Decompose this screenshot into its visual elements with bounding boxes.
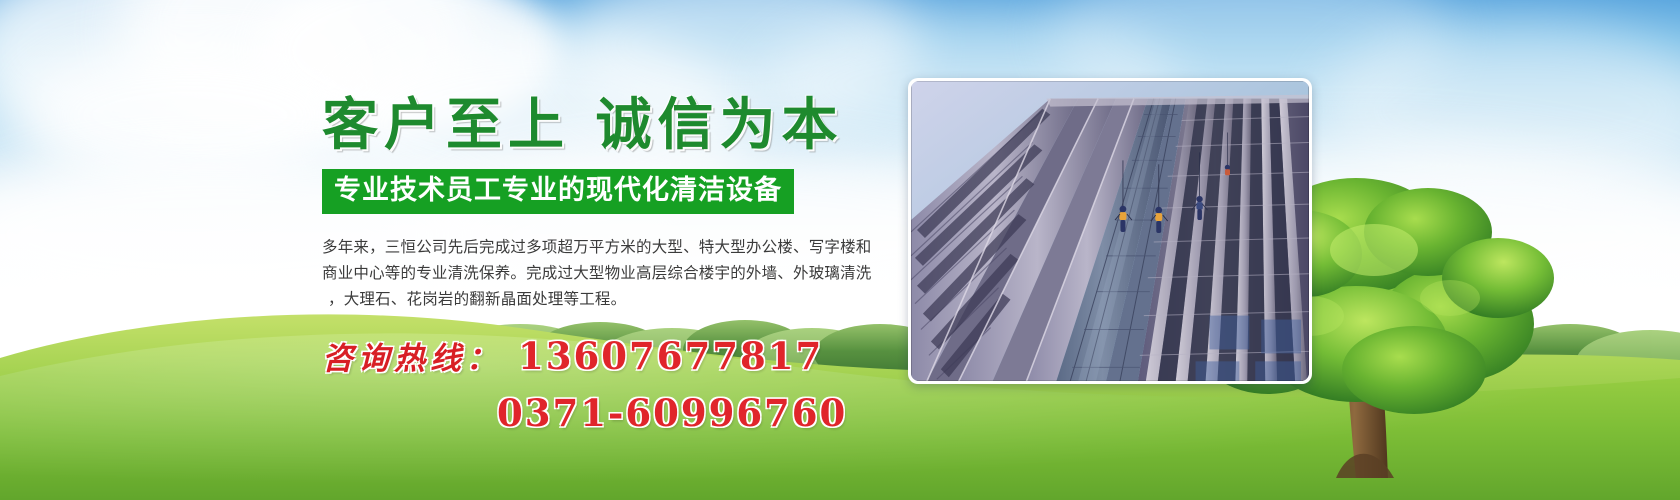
description-line: 商业中心等的专业清洗保养。完成过大型物业高层综合楼宇的外墙、外玻璃清洗: [322, 260, 888, 286]
banner-subheadline-bar: 专业技术员工专业的现代化清洁设备: [322, 169, 794, 214]
hotline-row-secondary: 0371-60996760: [497, 391, 902, 435]
banner-headline: 客户至上 诚信为本: [322, 96, 902, 155]
promotional-banner: 客户至上 诚信为本 专业技术员工专业的现代化清洁设备 多年来，三恒公司先后完成过…: [0, 0, 1680, 500]
description-line: ，大理石、花岗岩的翻新晶面处理等工程。: [322, 286, 888, 312]
hotline-label: 咨询热线：: [322, 341, 502, 377]
banner-description: 多年来，三恒公司先后完成过多项超万平方米的大型、特大型办公楼、写字楼和 商业中心…: [322, 234, 888, 312]
banner-subheadline-text: 专业技术员工专业的现代化清洁设备: [334, 175, 782, 206]
highrise-window-cleaning-photo: [911, 81, 1309, 381]
building-photo: [911, 81, 1309, 381]
description-line: 多年来，三恒公司先后完成过多项超万平方米的大型、特大型办公楼、写字楼和: [322, 234, 888, 260]
building-photo-frame[interactable]: [908, 78, 1312, 384]
hotline-mobile-number[interactable]: 13607677817: [518, 334, 823, 378]
hotline-row-primary: 咨询热线：13607677817: [322, 338, 902, 375]
hotline-landline-number[interactable]: 0371-60996760: [497, 391, 847, 435]
banner-copy: 客户至上 诚信为本 专业技术员工专业的现代化清洁设备 多年来，三恒公司先后完成过…: [322, 96, 902, 435]
